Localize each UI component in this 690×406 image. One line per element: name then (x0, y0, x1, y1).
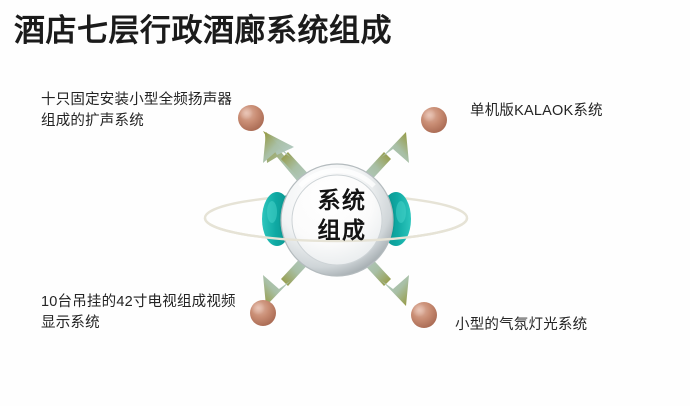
node-sphere-top-left[interactable] (238, 105, 264, 131)
node-caption-top-left: 十只固定安装小型全频扬声器组成的扩声系统 (41, 90, 237, 131)
system-composition-diagram (0, 0, 690, 406)
node-sphere-bottom-left[interactable] (250, 300, 276, 326)
node-caption-top-right: 单机版KALAOK系统 (470, 101, 622, 122)
slide-canvas: 酒店七层行政酒廊系统组成 (0, 0, 690, 406)
node-sphere-top-right[interactable] (421, 107, 447, 133)
node-caption-bottom-left: 10台吊挂的42寸电视组成视频显示系统 (41, 292, 237, 333)
node-caption-bottom-right: 小型的气氛灯光系统 (455, 315, 645, 336)
node-sphere-bottom-right[interactable] (411, 302, 437, 328)
hub-sphere (281, 164, 393, 276)
